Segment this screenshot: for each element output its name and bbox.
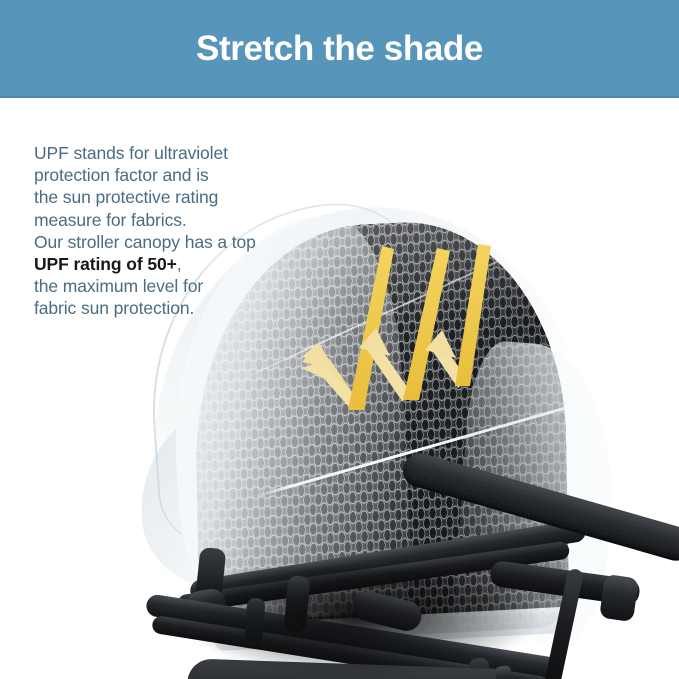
copy-line-6: the maximum level for: [34, 275, 296, 297]
upf-rating-emphasis: UPF rating of 50+: [34, 254, 177, 274]
copy-paragraph: UPF stands for ultraviolet protection fa…: [34, 142, 296, 320]
copy-line-5: Our stroller canopy has a top: [34, 231, 296, 253]
frame-clamp-right: [599, 574, 639, 622]
copy-line-1: UPF stands for ultraviolet: [34, 142, 296, 164]
copy-line-2: protection factor and is: [34, 164, 296, 186]
page-title: Stretch the shade: [196, 31, 483, 66]
copy-line-emphasis: UPF rating of 50+,: [34, 253, 296, 275]
upf-rating-comma: ,: [177, 254, 182, 274]
copy-line-4: measure for fabrics.: [34, 209, 296, 231]
body-copy: UPF stands for ultraviolet protection fa…: [34, 142, 296, 320]
product-infographic-panel: Stretch the shade: [0, 0, 679, 679]
copy-line-7: fabric sun protection.: [34, 297, 296, 319]
frame-buckle: [495, 665, 514, 679]
header-banner: Stretch the shade: [0, 0, 679, 98]
copy-line-3: the sun protective rating: [34, 186, 296, 208]
